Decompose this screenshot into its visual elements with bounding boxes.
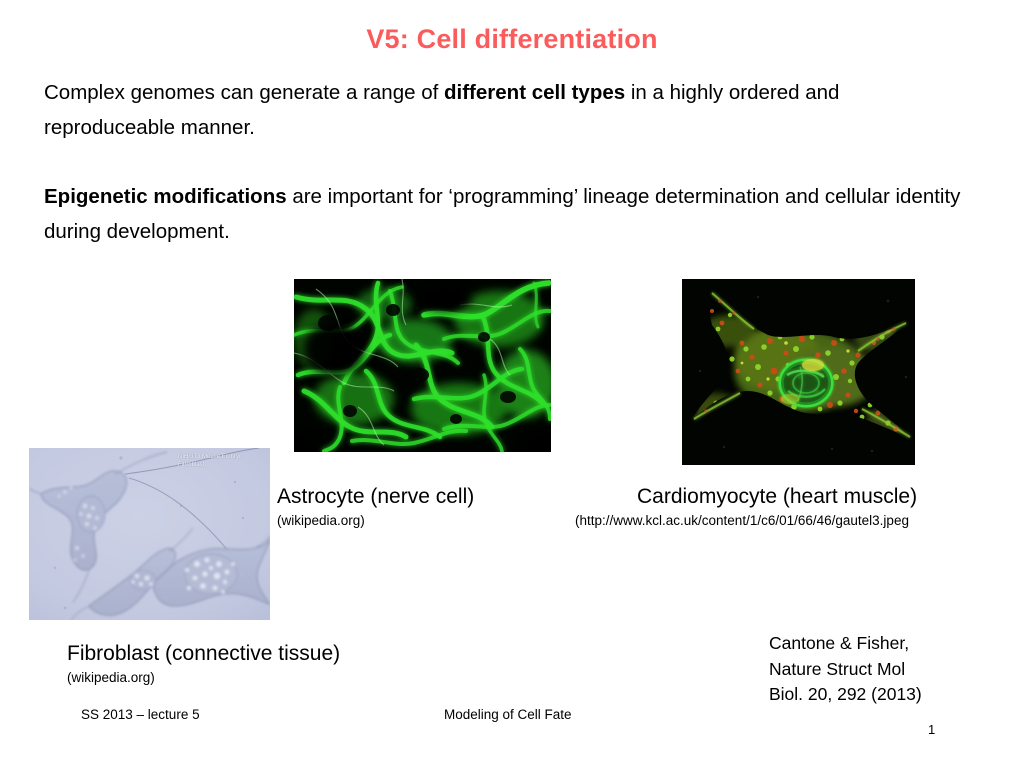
reference-line-2: Nature Struct Mol: [769, 657, 922, 683]
cardiomyocyte-micrograph-graphic: [682, 279, 915, 465]
reference-line-3: Biol. 20, 292 (2013): [769, 682, 922, 708]
page-title: V5: Cell differentiation: [0, 24, 1024, 55]
astrocyte-source: (wikipedia.org): [277, 513, 365, 529]
footer-lecture-label: SS 2013 – lecture 5: [81, 707, 200, 722]
fibroblast-embedded-label: NIH/3T3 Mouse Embryo Fibroblast: [178, 453, 264, 469]
astrocyte-caption: Astrocyte (nerve cell): [277, 485, 474, 509]
cardiomyocyte-caption: Cardiomyocyte (heart muscle): [637, 485, 917, 509]
slide-number: 1: [928, 722, 935, 737]
footer-course-title: Modeling of Cell Fate: [444, 707, 572, 722]
reference-line-1: Cantone & Fisher,: [769, 631, 922, 657]
paragraph-2-emphasis: Epigenetic modifications: [44, 185, 287, 208]
paragraph-1-part-1: Complex genomes can generate a range of: [44, 81, 444, 104]
fibroblast-caption: Fibroblast (connective tissue): [67, 642, 340, 666]
paragraph-1-emphasis: different cell types: [444, 81, 625, 104]
reference-citation: Cantone & Fisher, Nature Struct Mol Biol…: [769, 631, 922, 708]
cardiomyocyte-source: (http://www.kcl.ac.uk/content/1/c6/01/66…: [575, 513, 909, 529]
fibroblast-source: (wikipedia.org): [67, 670, 155, 686]
astrocyte-micrograph: [294, 279, 551, 452]
body-paragraph-2: Epigenetic modifications are important f…: [44, 179, 994, 249]
cardiomyocyte-micrograph: [682, 279, 915, 465]
body-paragraph-1: Complex genomes can generate a range of …: [44, 75, 924, 145]
fibroblast-micrograph-graphic: [29, 448, 270, 620]
fibroblast-micrograph: NIH/3T3 Mouse Embryo Fibroblast: [29, 448, 270, 620]
astrocyte-micrograph-graphic: [294, 279, 551, 452]
